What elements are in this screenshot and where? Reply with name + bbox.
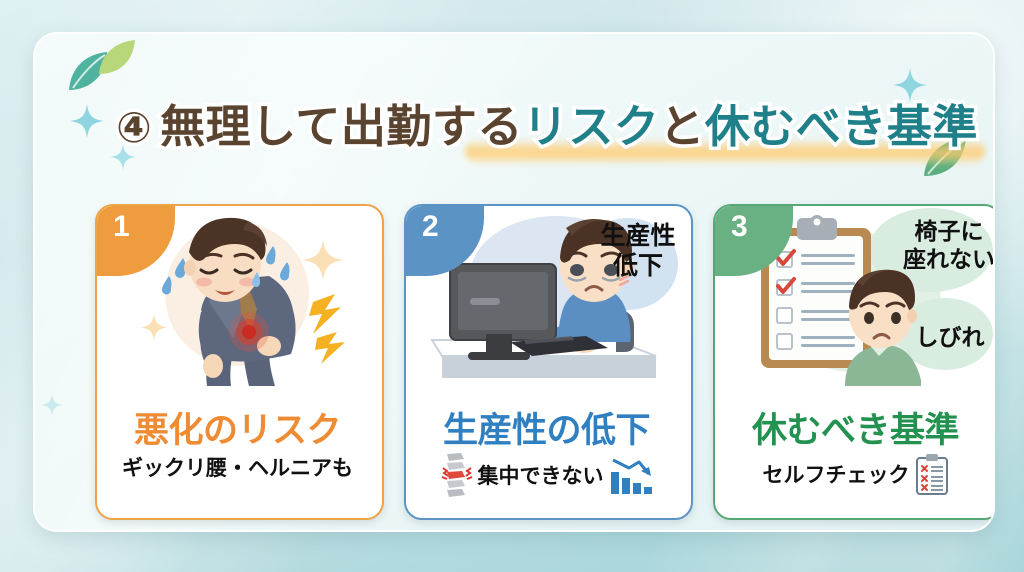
title-part-brown: 無理して出勤する bbox=[160, 101, 523, 152]
spine-pain-icon bbox=[441, 452, 473, 498]
card2-bubble-line-1: 生産性 bbox=[592, 222, 684, 252]
card-heading: 生産性の低下 bbox=[406, 402, 687, 453]
sparkle-icon bbox=[41, 394, 63, 416]
card-risk-worsening[interactable]: 1 bbox=[95, 204, 384, 520]
leaf-icon bbox=[97, 36, 137, 76]
card3-bubble1-line-1: 椅子に bbox=[901, 218, 995, 246]
card2-speech-bubble: 生産性 低下 bbox=[592, 222, 684, 281]
title-part-brown-to: と bbox=[659, 101, 705, 152]
title-number: ④ bbox=[116, 104, 152, 151]
card-heading: 休むべき基準 bbox=[715, 402, 995, 453]
card-subtitle-row: ギックリ腰・ヘルニアも bbox=[97, 452, 378, 482]
card-subtitle-row: セルフチェック bbox=[715, 452, 995, 496]
clipboard-x-marks-icon bbox=[915, 452, 949, 496]
infographic-slide: ④無理して出勤するリスクと休むべき基準 1 bbox=[0, 0, 1024, 572]
leaf-icon bbox=[65, 48, 111, 94]
card-subtitle: ギックリ腰・ヘルニアも bbox=[122, 452, 353, 482]
card3-speech-bubble-numbness: しびれ bbox=[905, 318, 995, 352]
card-subtitle: 集中できない bbox=[478, 460, 604, 490]
declining-bar-chart-icon bbox=[609, 454, 653, 496]
card-productivity-drop[interactable]: 2 bbox=[404, 204, 693, 520]
title-part-teal-risk: リスク bbox=[523, 101, 660, 152]
card-subtitle: セルフチェック bbox=[763, 459, 910, 489]
card2-bubble-line-2: 低下 bbox=[592, 252, 684, 282]
card-subtitle-row: 集中できない bbox=[406, 452, 687, 498]
card3-speech-bubble-chair: 椅子に 座れない bbox=[901, 218, 995, 273]
card-heading: 悪化のリスク bbox=[97, 402, 378, 453]
card3-bubble1-line-2: 座れない bbox=[901, 246, 995, 274]
page-title: ④無理して出勤するリスクと休むべき基準 bbox=[35, 90, 995, 155]
content-panel: ④無理して出勤するリスクと休むべき基準 1 bbox=[33, 32, 995, 532]
title-part-teal-standard: 休むべき基準 bbox=[705, 101, 978, 152]
card-rest-criteria[interactable]: 3 bbox=[713, 204, 995, 520]
